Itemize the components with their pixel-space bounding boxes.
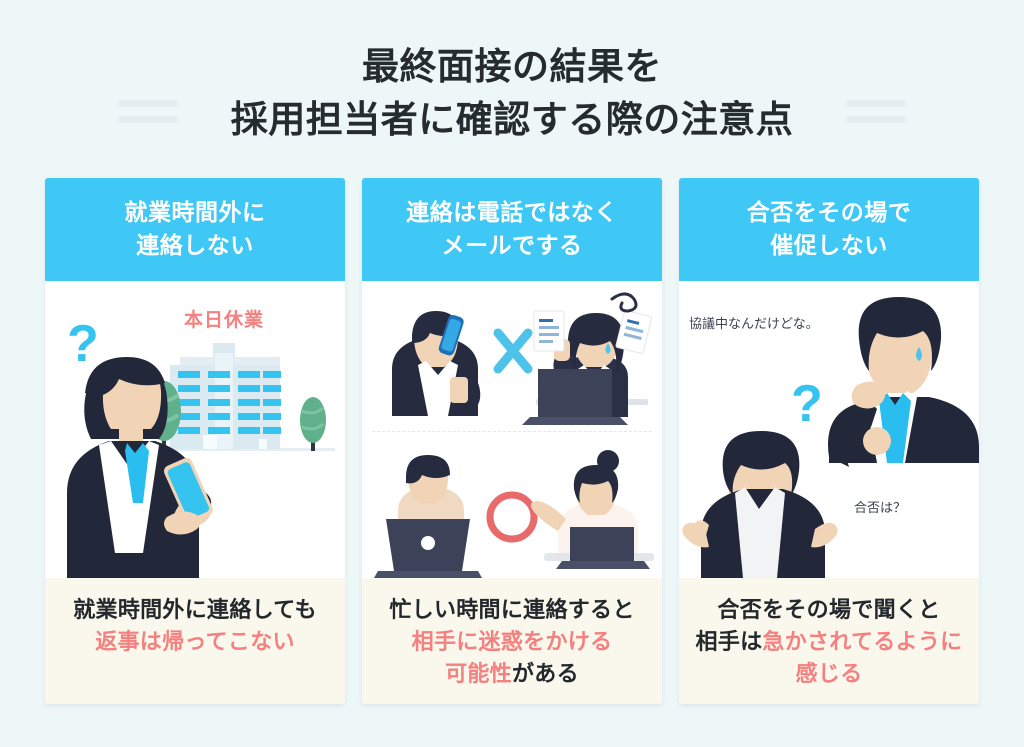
tree-icon — [300, 397, 326, 451]
card-1-figure: 本日休業 — [45, 281, 345, 578]
office-building-icon — [170, 343, 281, 449]
card-2-caption-line-3-pink: 可能性 — [445, 661, 512, 686]
card-1: 就業時間外に 連絡しない 本日休業 — [45, 178, 345, 704]
card-2-figure — [362, 281, 662, 578]
page-title-line-2: 採用担当者に確認する際の注意点 — [231, 94, 794, 147]
card-2-caption-line-2: 相手に迷惑をかける — [370, 626, 654, 658]
card-1-caption-line-1: 就業時間外に連絡しても — [53, 594, 337, 626]
card-3-header-line-2: 催促しない — [685, 229, 973, 262]
phone-call-x-versus-email-circle-illustration — [362, 281, 662, 578]
card-1-header-line-1: 就業時間外に — [51, 196, 339, 229]
applicant-figure — [682, 431, 837, 578]
recruiter-thought-label: 協議中なんだけどな。 — [689, 313, 819, 332]
card-3-caption: 合否をその場で聞くと 相手は急かされてるように 感じる — [679, 578, 979, 704]
card-3-figure: 協議中なんだけどな。 合否は？ — [679, 281, 979, 578]
card-3-caption-line-2-pink: 急かされてるように — [762, 629, 962, 654]
page-title: 最終面接の結果を 採用担当者に確認する際の注意点 — [231, 41, 794, 146]
card-2-header-line-2: メールでする — [368, 229, 656, 262]
decorative-line — [119, 100, 177, 107]
closed-today-label: 本日休業 — [184, 305, 264, 332]
decorative-line — [847, 100, 905, 107]
man-at-laptop-figure — [374, 455, 482, 578]
title-area: 最終面接の結果を 採用担当者に確認する際の注意点 — [0, 34, 1024, 154]
applicant-question-label: 合否は？ — [854, 497, 906, 516]
card-3-caption-line-2-dark: 相手は — [696, 629, 763, 654]
card-2-header: 連絡は電話ではなく メールでする — [362, 178, 662, 281]
card-1-header-line-2: 連絡しない — [51, 229, 339, 262]
card-3-header: 合否をその場で 催促しない — [679, 178, 979, 281]
card-1-caption: 就業時間外に連絡しても 返事は帰ってこない — [45, 578, 345, 704]
decorative-line — [847, 116, 905, 123]
card-2: 連絡は電話ではなく メールでする — [362, 178, 662, 704]
document-icon — [534, 311, 564, 351]
decorative-lines-right — [847, 100, 905, 123]
document-icon — [616, 310, 652, 354]
page-title-line-1: 最終面接の結果を — [231, 41, 794, 94]
card-2-caption-line-3-dark: がある — [512, 661, 579, 686]
figure-divider — [372, 431, 652, 432]
woman-at-laptop-figure — [531, 450, 654, 569]
card-1-header: 就業時間外に 連絡しない — [45, 178, 345, 281]
card-list: 就業時間外に 連絡しない 本日休業 — [45, 178, 979, 704]
card-1-caption-line-2: 返事は帰ってこない — [53, 626, 337, 658]
busy-woman-figure — [522, 294, 652, 425]
card-2-header-line-1: 連絡は電話ではなく — [368, 196, 656, 229]
man-on-phone-figure — [392, 311, 480, 416]
card-2-caption: 忙しい時間に連絡すると 相手に迷惑をかける 可能性がある — [362, 578, 662, 704]
circle-mark-icon — [490, 495, 534, 539]
card-3: 合否をその場で 催促しない 協議中なんだけどな。 合否は？ — [679, 178, 979, 704]
card-3-caption-line-1: 合否をその場で聞くと — [687, 594, 971, 626]
question-mark-icon: ? — [791, 375, 823, 433]
card-3-header-line-1: 合否をその場で — [685, 196, 973, 229]
recruiter-figure — [828, 297, 979, 467]
decorative-lines-left — [119, 100, 177, 123]
card-3-caption-line-2: 相手は急かされてるように — [687, 626, 971, 658]
infographic-page: { "page": { "background_color": "#eef7f8… — [0, 0, 1024, 747]
cross-mark-icon — [498, 333, 528, 369]
question-mark-icon: ? — [67, 315, 99, 373]
card-3-caption-line-3: 感じる — [687, 658, 971, 690]
card-2-caption-line-3: 可能性がある — [370, 658, 654, 690]
card-2-caption-line-1: 忙しい時間に連絡すると — [370, 594, 654, 626]
decorative-line — [119, 116, 177, 123]
